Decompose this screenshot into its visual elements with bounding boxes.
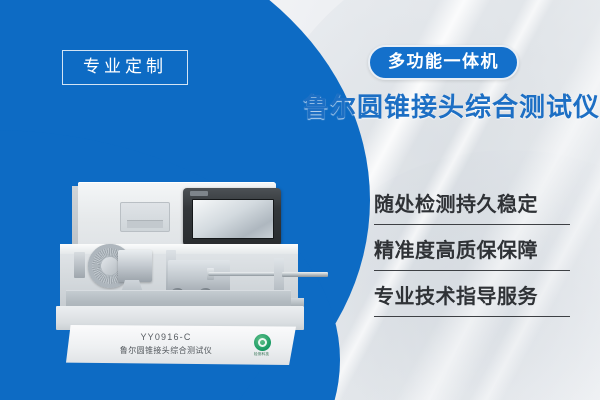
logo-caption: 检测科技 bbox=[254, 352, 274, 357]
page-title: 鲁尔圆锥接头综合测试仪 bbox=[303, 93, 600, 122]
machine-touchscreen-bezel bbox=[183, 188, 281, 246]
feature-label: 精准度高质保保障 bbox=[374, 240, 570, 263]
machine-vent-plate bbox=[120, 202, 170, 232]
feature-label: 随处检测持久稳定 bbox=[374, 194, 570, 217]
manufacturer-logo: 检测科技 bbox=[254, 334, 274, 360]
custom-made-badge: 专业定制 bbox=[62, 50, 188, 85]
machine-model-text: YY0916-C bbox=[66, 332, 266, 342]
list-item: 专业技术指导服务 bbox=[374, 284, 570, 317]
feature-label: 专业技术指导服务 bbox=[374, 286, 570, 309]
product-photo-machine: YY0916-C 鲁尔圆锥接头综合测试仪 检测科技 bbox=[60, 182, 350, 382]
logo-circle-icon bbox=[254, 334, 271, 351]
screen-brand-mark bbox=[190, 191, 208, 196]
list-item: 随处检测持久稳定 bbox=[374, 192, 570, 225]
feature-list: 随处检测持久稳定 精准度高质保保障 专业技术指导服务 bbox=[374, 192, 570, 317]
mechanism-drum bbox=[118, 250, 152, 282]
machine-touchscreen-display bbox=[192, 199, 274, 239]
mechanism-left-bracket bbox=[74, 252, 85, 278]
machine-name-text: 鲁尔圆锥接头综合测试仪 bbox=[66, 345, 266, 356]
list-item: 精准度高质保保障 bbox=[374, 238, 570, 271]
mechanism-rod-extension bbox=[282, 272, 328, 277]
mechanism-wheel-hub bbox=[101, 257, 119, 275]
multifunction-pill-label: 多功能一体机 bbox=[368, 45, 519, 80]
machine-front-label: YY0916-C 鲁尔圆锥接头综合测试仪 检测科技 bbox=[66, 325, 296, 365]
product-banner: 专业定制 多功能一体机 鲁尔圆锥接头综合测试仪 随处检测持久稳定 精准度高质保保… bbox=[0, 0, 600, 400]
